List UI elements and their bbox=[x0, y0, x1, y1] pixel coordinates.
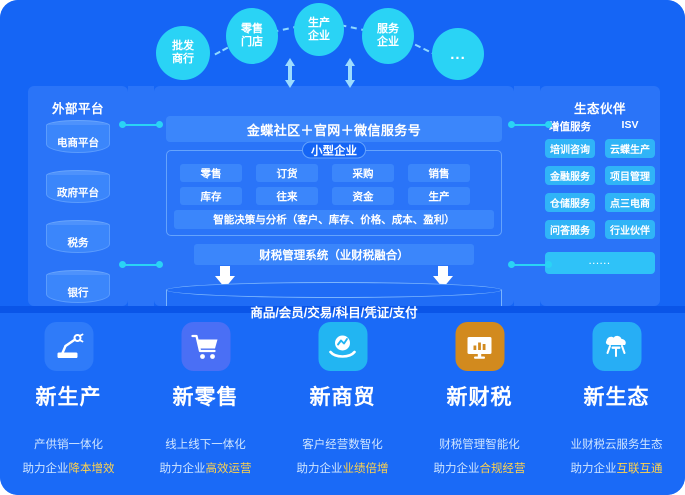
hand-chart-icon bbox=[318, 322, 367, 371]
connector-dot-left-top-a bbox=[119, 121, 126, 128]
cylinder-label: 税务 bbox=[46, 230, 110, 254]
connector-dot-left-top-b bbox=[156, 121, 163, 128]
platform-cylinder-government[interactable]: 政府平台 bbox=[46, 170, 110, 206]
partner-chip-warehouse[interactable]: 仓储服务 bbox=[545, 193, 595, 212]
connector-line-right-top bbox=[511, 124, 549, 126]
pillars-section: 新生产 产供销一体化 助力企业降本增效 新零售 线上线下一体化 助力企业高效运营 bbox=[0, 313, 685, 495]
partner-chip-finance[interactable]: 金融服务 bbox=[545, 166, 595, 185]
node-service-enterprise[interactable]: 服务企业 bbox=[362, 8, 414, 64]
core-platform-panel: 金蝶社区＋官网＋微信服务号 小型企业 零售 订货 采购 销售 库存 往来 资金 … bbox=[154, 86, 514, 306]
connector-line-left-bottom bbox=[122, 264, 160, 266]
column-head-isv: ISV bbox=[605, 119, 655, 131]
pillar-title: 新商贸 bbox=[274, 381, 411, 411]
platform-cylinder-tax[interactable]: 税务 bbox=[46, 220, 110, 256]
pillar-card-new-commerce[interactable]: 新商贸 客户经营数智化 助力企业业绩倍增 bbox=[274, 313, 411, 495]
node-label: ... bbox=[450, 48, 466, 61]
node-label: 生产企业 bbox=[308, 17, 330, 43]
column-head-value-added: 增值服务 bbox=[545, 119, 595, 134]
connector-band-left bbox=[128, 86, 154, 306]
partner-chip-dianshan[interactable]: 点三电商 bbox=[605, 193, 655, 212]
pillar-title: 新财税 bbox=[411, 381, 548, 411]
connector-dot-right-bottom-b bbox=[545, 261, 552, 268]
partner-chip-more[interactable]: ······ bbox=[545, 252, 655, 274]
pillar-card-new-retail[interactable]: 新零售 线上线下一体化 助力企业高效运营 bbox=[137, 313, 274, 495]
cloud-network-icon bbox=[592, 322, 641, 371]
module-chip-production[interactable]: 生产 bbox=[408, 187, 470, 205]
pillar-line-2: 助力企业降本增效 bbox=[0, 460, 137, 476]
node-retail-store[interactable]: 零售门店 bbox=[226, 8, 278, 64]
data-store-label: 商品/会员/交易/科目/凭证/支付 bbox=[166, 296, 502, 326]
pillar-line-2: 助力企业高效运营 bbox=[137, 460, 274, 476]
connector-dot-left-bottom-a bbox=[119, 261, 126, 268]
analysis-bar[interactable]: 智能决策与分析（客户、库存、价格、成本、盈利） bbox=[174, 210, 494, 229]
connector-band-right bbox=[514, 86, 540, 306]
pillar-card-new-production[interactable]: 新生产 产供销一体化 助力企业降本增效 bbox=[0, 313, 137, 495]
cylinder-label: 银行 bbox=[46, 280, 110, 304]
pillar-line-1: 产供销一体化 bbox=[0, 436, 137, 452]
node-label: 服务企业 bbox=[377, 23, 399, 49]
pillar-line-1: 线上线下一体化 bbox=[137, 436, 274, 452]
double-arrow-icon-right bbox=[344, 58, 356, 88]
module-chip-purchasing[interactable]: 采购 bbox=[332, 164, 394, 182]
pillar-title: 新生态 bbox=[548, 381, 685, 411]
pillar-card-new-ecosystem[interactable]: 新生态 业财税云服务生态 助力企业互联互通 bbox=[548, 313, 685, 495]
partner-chip-training[interactable]: 培训咨询 bbox=[545, 139, 595, 158]
pillar-title: 新零售 bbox=[137, 381, 274, 411]
pillar-line-2: 助力企业合规经营 bbox=[411, 460, 548, 476]
pillar-line-1: 客户经营数智化 bbox=[274, 436, 411, 452]
node-wholesale[interactable]: 批发商行 bbox=[156, 26, 210, 80]
double-arrow-icon-left bbox=[284, 58, 296, 88]
ecosystem-partner-title: 生态伙伴 bbox=[540, 98, 660, 117]
module-chip-inventory[interactable]: 库存 bbox=[180, 187, 242, 205]
fintax-system-bar[interactable]: 财税管理系统（业财税融合） bbox=[194, 244, 474, 265]
module-chip-funds[interactable]: 资金 bbox=[332, 187, 394, 205]
connector-dot-left-bottom-b bbox=[156, 261, 163, 268]
module-chip-retail[interactable]: 零售 bbox=[180, 164, 242, 182]
cylinder-label: 电商平台 bbox=[46, 130, 110, 154]
monitor-bar-chart-icon bbox=[455, 322, 504, 371]
connector-line-left-top bbox=[122, 124, 160, 126]
community-header: 金蝶社区＋官网＋微信服务号 bbox=[166, 116, 502, 142]
node-label: 零售门店 bbox=[241, 23, 263, 49]
module-chip-sales[interactable]: 销售 bbox=[408, 164, 470, 182]
partner-chip-yundie[interactable]: 云蝶生产 bbox=[605, 139, 655, 158]
connector-dot-right-top-a bbox=[508, 121, 515, 128]
pillar-line-1: 业财税云服务生态 bbox=[548, 436, 685, 452]
pillar-line-2: 助力企业互联互通 bbox=[548, 460, 685, 476]
platform-cylinder-ecommerce[interactable]: 电商平台 bbox=[46, 120, 110, 156]
node-more[interactable]: ... bbox=[432, 28, 484, 80]
connector-line-right-bottom bbox=[511, 264, 549, 266]
module-chip-transactions[interactable]: 往来 bbox=[256, 187, 318, 205]
connector-dot-right-bottom-a bbox=[508, 261, 515, 268]
node-label: 批发商行 bbox=[172, 40, 194, 66]
ecosystem-partner-panel: 生态伙伴 增值服务 ISV 培训咨询 金融服务 仓储服务 问答服务 云蝶生产 项… bbox=[540, 86, 660, 306]
pillar-line-2: 助力企业业绩倍增 bbox=[274, 460, 411, 476]
node-manufacturing[interactable]: 生产企业 bbox=[294, 3, 344, 56]
architecture-section: 批发商行 零售门店 生产企业 服务企业 ... 外部平台 电商平台 bbox=[0, 0, 685, 306]
module-chip-ordering[interactable]: 订货 bbox=[256, 164, 318, 182]
cylinder-label: 政府平台 bbox=[46, 180, 110, 204]
partner-chip-industry[interactable]: 行业伙伴 bbox=[605, 220, 655, 239]
small-enterprise-badge: 小型企业 bbox=[302, 142, 366, 159]
robot-arm-icon bbox=[44, 322, 93, 371]
pillar-card-new-fintax[interactable]: 新财税 财税管理智能化 助力企业合规经营 bbox=[411, 313, 548, 495]
infographic-root: 批发商行 零售门店 生产企业 服务企业 ... 外部平台 电商平台 bbox=[0, 0, 685, 495]
partner-chip-project[interactable]: 项目管理 bbox=[605, 166, 655, 185]
shopping-cart-icon bbox=[181, 322, 230, 371]
connector-dot-right-top-b bbox=[545, 121, 552, 128]
pillar-title: 新生产 bbox=[0, 381, 137, 411]
external-platform-title: 外部平台 bbox=[28, 98, 128, 117]
external-platform-panel: 外部平台 电商平台 政府平台 税务 银行 bbox=[28, 86, 128, 306]
pillar-line-1: 财税管理智能化 bbox=[411, 436, 548, 452]
partner-chip-qa[interactable]: 问答服务 bbox=[545, 220, 595, 239]
platform-cylinder-bank[interactable]: 银行 bbox=[46, 270, 110, 306]
